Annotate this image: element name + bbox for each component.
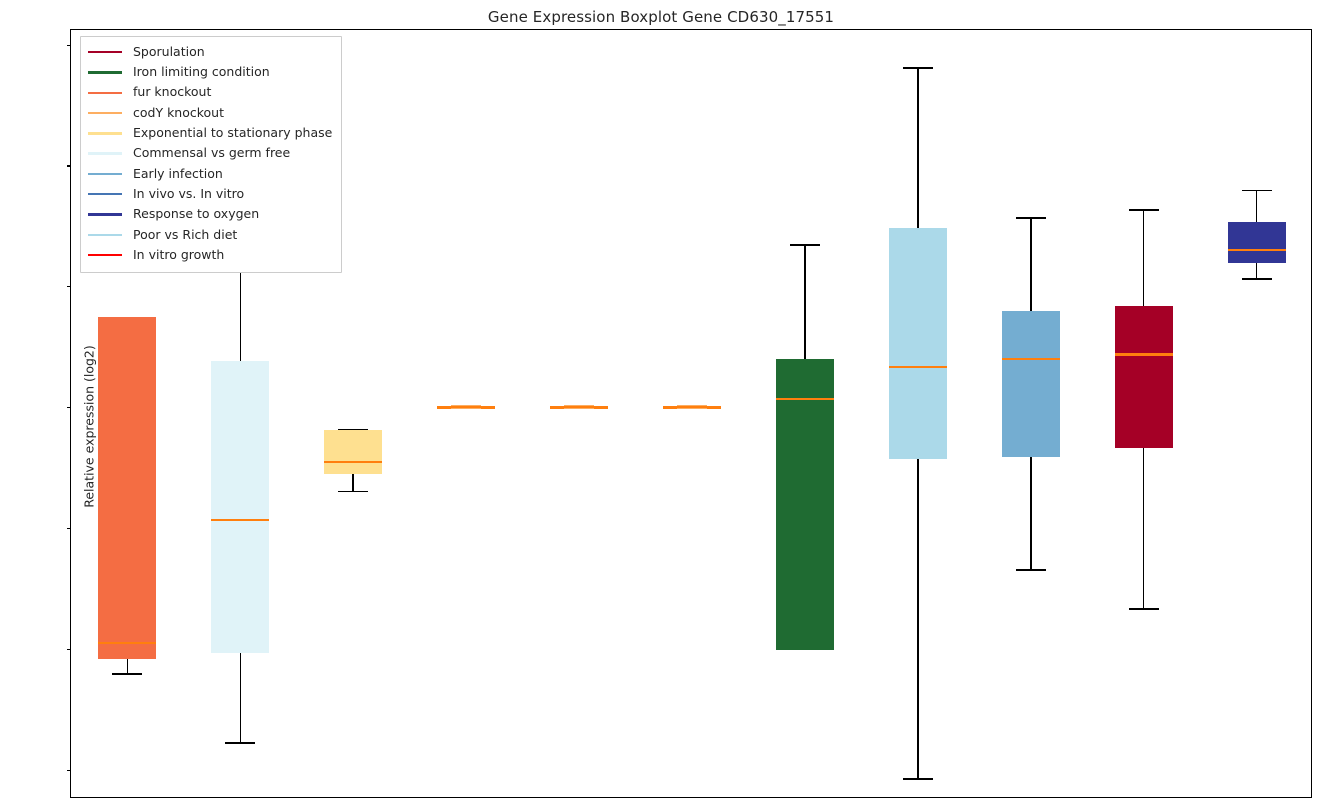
box-rect [1228, 222, 1286, 263]
whisker-upper [804, 244, 806, 359]
whisker-lower [127, 659, 129, 674]
median-line [98, 642, 156, 644]
y-tick-mark [67, 649, 71, 650]
legend-item[interactable]: Sporulation [88, 42, 332, 62]
box-rect [98, 317, 156, 658]
legend-item[interactable]: Early infection [88, 164, 332, 184]
whisker-upper [917, 67, 919, 229]
legend-item-label: fur knockout [133, 86, 211, 99]
legend-color-swatch [88, 112, 122, 114]
legend-item[interactable]: Exponential to stationary phase [88, 123, 332, 143]
boxplot-box [663, 30, 721, 797]
legend-item-label: In vitro growth [133, 249, 224, 262]
boxplot-box [1228, 30, 1286, 797]
legend-item[interactable]: Commensal vs germ free [88, 143, 332, 163]
box-rect [211, 361, 269, 652]
legend-color-swatch [88, 152, 122, 154]
y-tick-mark [67, 770, 71, 771]
median-line [211, 519, 269, 521]
median-line [776, 398, 834, 400]
legend-color-swatch [88, 51, 122, 53]
legend-item[interactable]: In vivo vs. In vitro [88, 184, 332, 204]
legend-item[interactable]: codY knockout [88, 103, 332, 123]
y-tick-mark [67, 528, 71, 529]
legend-color-swatch [88, 213, 122, 215]
legend-item-label: In vivo vs. In vitro [133, 188, 244, 201]
boxplot-box [776, 30, 834, 797]
legend-color-swatch [88, 193, 122, 195]
whisker-cap-lower [225, 742, 255, 744]
whisker-lower [1256, 263, 1258, 278]
legend-item-label: Early infection [133, 168, 223, 181]
median-line [451, 406, 481, 408]
legend-item[interactable]: Poor vs Rich diet [88, 225, 332, 245]
legend-color-swatch [88, 132, 122, 134]
whisker-lower [352, 474, 354, 491]
legend-color-swatch [88, 71, 122, 73]
chart-title: Gene Expression Boxplot Gene CD630_17551 [0, 8, 1322, 26]
whisker-cap-lower [338, 491, 368, 493]
box-rect [1115, 306, 1173, 448]
legend-color-swatch [88, 92, 122, 94]
whisker-upper [1030, 217, 1032, 311]
median-line [677, 406, 707, 408]
whisker-upper [1143, 209, 1145, 306]
boxplot-box [550, 30, 608, 797]
legend-item-label: codY knockout [133, 107, 224, 120]
legend-item-label: Exponential to stationary phase [133, 127, 332, 140]
whisker-lower [1143, 448, 1145, 609]
box-rect [324, 430, 382, 474]
whisker-cap-lower [1129, 608, 1159, 610]
whisker-lower [1030, 457, 1032, 569]
legend-item-label: Response to oxygen [133, 208, 259, 221]
legend-item[interactable]: Iron limiting condition [88, 62, 332, 82]
whisker-cap-upper [903, 67, 933, 69]
median-line [1002, 358, 1060, 360]
box-rect [889, 228, 947, 458]
boxplot-box [437, 30, 495, 797]
y-tick-mark [67, 407, 71, 408]
whisker-cap-lower [1016, 569, 1046, 571]
y-tick-mark [67, 165, 71, 166]
y-tick-mark [67, 45, 71, 46]
whisker-cap-lower [112, 673, 142, 675]
median-line [564, 406, 594, 408]
median-line [889, 366, 947, 368]
whisker-cap-lower [1242, 278, 1272, 280]
box-rect [776, 359, 834, 650]
legend-item-label: Sporulation [133, 46, 205, 59]
y-tick-mark [67, 286, 71, 287]
whisker-cap-upper [790, 244, 820, 246]
whisker-cap-lower [903, 778, 933, 780]
whisker-cap-upper [1129, 209, 1159, 211]
whisker-cap-upper [1242, 190, 1272, 192]
legend-item[interactable]: In vitro growth [88, 245, 332, 265]
legend-item-label: Iron limiting condition [133, 66, 270, 79]
median-line [1228, 249, 1286, 251]
legend-item[interactable]: Response to oxygen [88, 204, 332, 224]
legend-item-label: Poor vs Rich diet [133, 229, 237, 242]
median-line [324, 461, 382, 463]
boxplot-box [1115, 30, 1173, 797]
box-rect [1002, 311, 1060, 457]
boxplot-box [1002, 30, 1060, 797]
boxplot-figure: Gene Expression Boxplot Gene CD630_17551… [0, 0, 1322, 812]
whisker-lower [240, 653, 242, 742]
median-line [1115, 353, 1173, 355]
legend-color-swatch [88, 173, 122, 175]
whisker-cap-upper [1016, 217, 1046, 219]
whisker-upper [1256, 190, 1258, 222]
legend-color-swatch [88, 234, 122, 236]
legend-color-swatch [88, 254, 122, 256]
whisker-lower [917, 459, 919, 779]
legend-item[interactable]: fur knockout [88, 83, 332, 103]
legend: SporulationIron limiting conditionfur kn… [80, 36, 342, 273]
legend-item-label: Commensal vs germ free [133, 147, 290, 160]
boxplot-box [889, 30, 947, 797]
